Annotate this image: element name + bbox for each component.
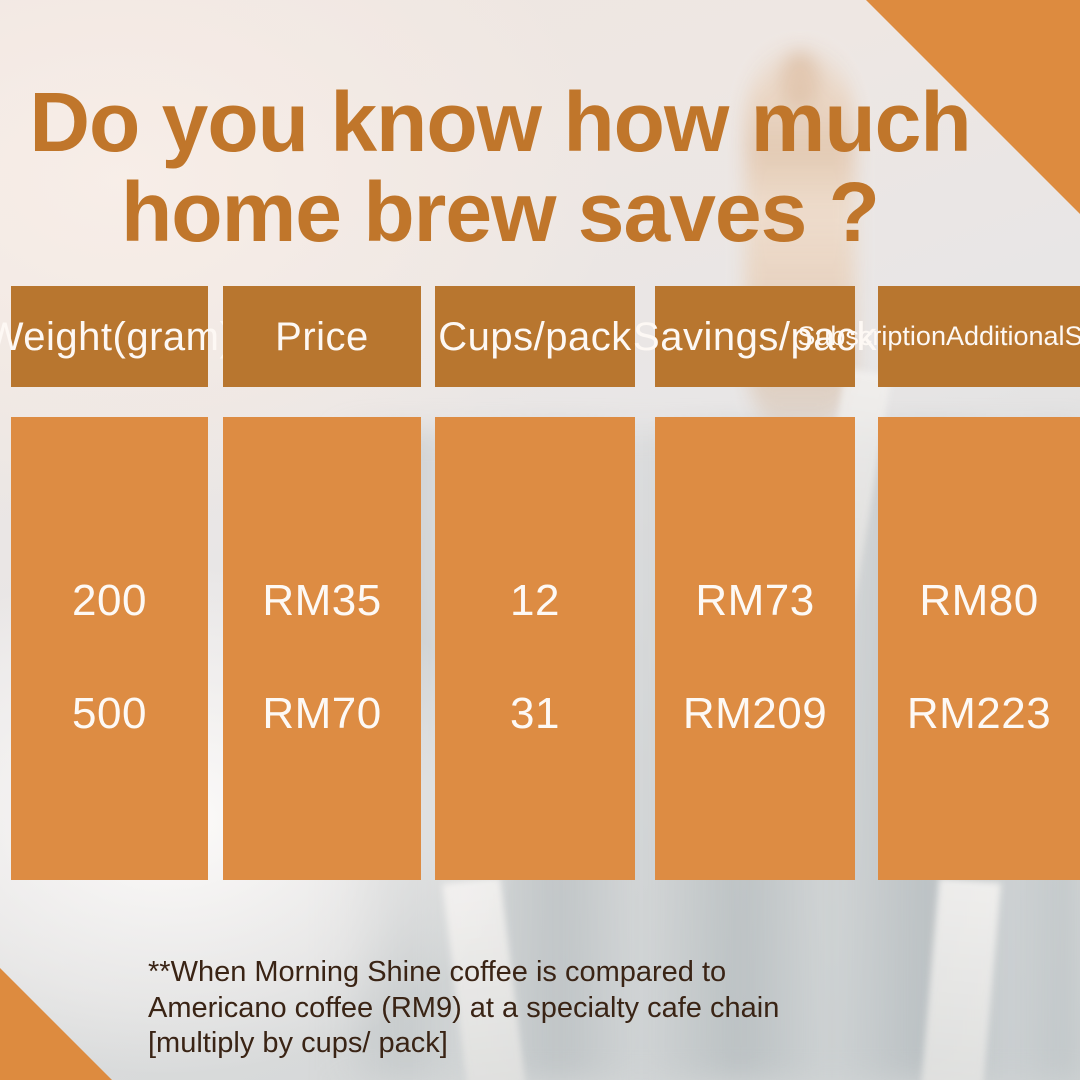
cell-subscription-row2: RM223 bbox=[878, 689, 1080, 739]
cell-cups-row2: 31 bbox=[435, 689, 635, 739]
cell-price-row1: RM35 bbox=[223, 576, 421, 626]
table-column-subscription-savings: RM80 RM223 bbox=[878, 417, 1080, 880]
page-title: Do you know how much home brew saves ? bbox=[0, 78, 1000, 258]
page-title-line-2: home brew saves ? bbox=[0, 168, 1000, 258]
page-title-line-1: Do you know how much bbox=[29, 75, 970, 169]
cell-savings-row2: RM209 bbox=[655, 689, 855, 739]
table-header-cups-per-pack: Cups/pack bbox=[435, 286, 635, 387]
table-column-price: RM35 RM70 bbox=[223, 417, 421, 880]
table-column-savings-per-pack: RM73 RM209 bbox=[655, 417, 855, 880]
cell-cups-row1: 12 bbox=[435, 576, 635, 626]
savings-table: Weight(gram) Price Cups/pack Savings/pac… bbox=[0, 286, 1080, 886]
table-header-weight: Weight(gram) bbox=[11, 286, 208, 387]
cell-price-row2: RM70 bbox=[223, 689, 421, 739]
table-header-subscription-additional-savings: SubscriptionAdditionalSavings bbox=[878, 286, 1080, 387]
table-column-weight: 200 500 bbox=[11, 417, 208, 880]
table-column-cups-per-pack: 12 31 bbox=[435, 417, 635, 880]
footnote: **When Morning Shine coffee is compared … bbox=[148, 955, 1048, 1062]
cell-weight-row2: 500 bbox=[11, 689, 208, 739]
cell-subscription-row1: RM80 bbox=[878, 576, 1080, 626]
table-header-price: Price bbox=[223, 286, 421, 387]
poster-canvas: Do you know how much home brew saves ? W… bbox=[0, 0, 1080, 1080]
cell-weight-row1: 200 bbox=[11, 576, 208, 626]
footnote-line-3: [multiply by cups/ pack] bbox=[148, 1026, 1048, 1062]
footnote-line-1: **When Morning Shine coffee is compared … bbox=[148, 955, 1048, 991]
cell-savings-row1: RM73 bbox=[655, 576, 855, 626]
footnote-line-2: Americano coffee (RM9) at a specialty ca… bbox=[148, 991, 1048, 1027]
corner-triangle-bottom-left bbox=[0, 968, 112, 1080]
